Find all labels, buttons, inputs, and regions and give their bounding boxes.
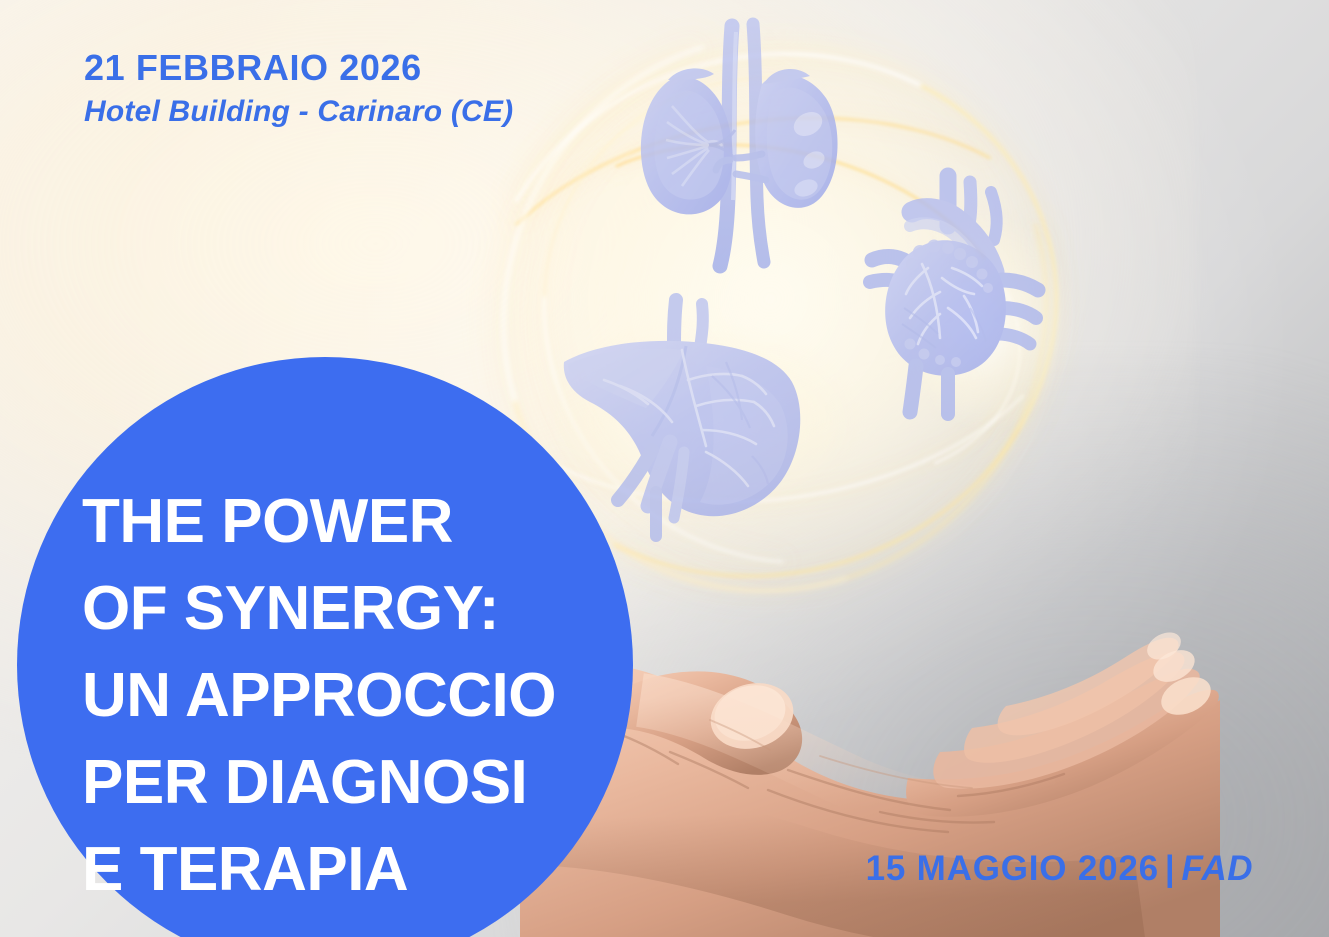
event-online-info: 15 MAGGIO 2026|FAD xyxy=(866,849,1253,889)
page-title: THE POWER OF SYNERGY: UN APPROCCIO PER D… xyxy=(82,478,602,913)
event-online-date: 15 MAGGIO 2026 xyxy=(866,849,1159,888)
event-venue: Hotel Building - Carinaro (CE) xyxy=(84,92,513,132)
event-live-info: 21 FEBBRAIO 2026 Hotel Building - Carina… xyxy=(84,46,513,132)
event-info-separator: | xyxy=(1165,849,1176,888)
event-live-date: 21 FEBBRAIO 2026 xyxy=(84,46,513,90)
kidneys-icon xyxy=(612,18,880,286)
heart-icon xyxy=(852,168,1058,420)
event-mode-badge: FAD xyxy=(1182,849,1254,888)
poster-canvas: THE POWER OF SYNERGY: UN APPROCCIO PER D… xyxy=(0,0,1329,937)
